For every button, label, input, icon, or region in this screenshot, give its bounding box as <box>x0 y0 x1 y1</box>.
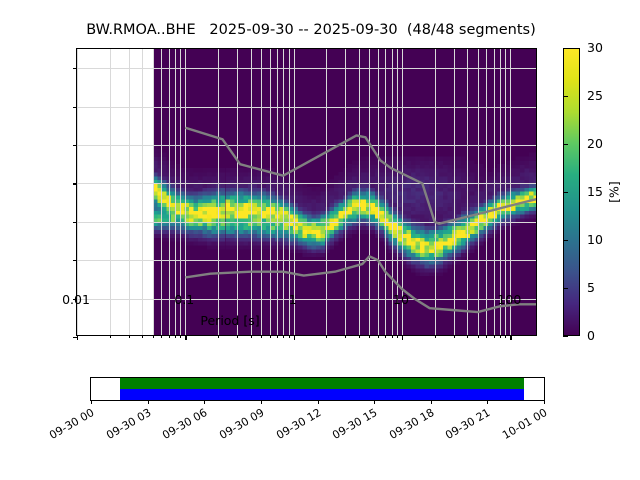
x-tick-minor <box>153 335 154 338</box>
colorbar-tick <box>563 48 568 49</box>
x-tick-minor <box>277 335 278 338</box>
x-tick-minor <box>378 335 379 338</box>
y-tick <box>73 222 78 223</box>
x-tick-minor <box>218 335 219 338</box>
x-tick-minor <box>435 335 436 338</box>
x-tick-minor <box>251 335 252 338</box>
colorbar-tick <box>563 288 568 289</box>
timeline-bar-blue <box>120 389 524 400</box>
x-tick-label: 10 <box>393 292 409 307</box>
page-title: BW.RMOA..BHE 2025-09-30 -- 2025-09-30 (4… <box>76 22 546 38</box>
timeline-tick-label: 09-30 18 <box>385 406 437 443</box>
ppsd-plot-axes[interactable] <box>76 48 537 336</box>
x-tick-minor <box>486 335 487 338</box>
y-tick <box>73 107 78 108</box>
timeline-tick-label: 09-30 15 <box>328 406 380 443</box>
x-tick-minor <box>478 335 479 338</box>
timeline-tick <box>544 400 545 404</box>
colorbar-tick-label: 25 <box>587 88 603 103</box>
x-tick-minor <box>289 335 290 338</box>
x-tick-minor <box>359 335 360 338</box>
timeline-tick <box>91 400 92 404</box>
x-tick-minor <box>161 335 162 338</box>
x-tick-minor <box>467 335 468 338</box>
colorbar-tick <box>563 240 568 241</box>
timeline-tick-label: 09-30 21 <box>441 406 493 443</box>
x-tick-major <box>185 335 186 340</box>
x-tick-minor <box>385 335 386 338</box>
y-tick <box>73 145 78 146</box>
x-tick-label: 1 <box>289 292 297 307</box>
timeline-tick <box>318 400 319 404</box>
noise-model-nhnm <box>185 128 536 224</box>
x-tick-minor <box>494 335 495 338</box>
x-tick-minor <box>283 335 284 338</box>
colorbar-tick-label: 0 <box>587 328 595 343</box>
x-tick-minor <box>129 335 130 338</box>
x-tick-label: 100 <box>497 292 521 307</box>
colorbar-tick <box>563 192 568 193</box>
timeline-bar-green <box>120 378 524 389</box>
x-tick-minor <box>237 335 238 338</box>
x-axis-title: Period [s] <box>200 313 259 328</box>
noise-model-nlnm <box>185 256 536 312</box>
timeline-tick <box>487 400 488 404</box>
timeline-tick <box>204 400 205 404</box>
timeline-tick <box>431 400 432 404</box>
noise-model-curves <box>77 49 536 335</box>
colorbar-tick <box>563 144 568 145</box>
colorbar-title: [%] <box>607 181 622 203</box>
x-tick-major <box>77 335 78 340</box>
ppsd-plot-canvas <box>77 49 536 335</box>
x-tick-major <box>294 335 295 340</box>
x-tick-minor <box>169 335 170 338</box>
timeline-tick <box>374 400 375 404</box>
ppsd-figure: BW.RMOA..BHE 2025-09-30 -- 2025-09-30 (4… <box>0 0 640 480</box>
x-tick-minor <box>454 335 455 338</box>
x-tick-minor <box>505 335 506 338</box>
x-tick-minor <box>175 335 176 338</box>
x-tick-minor <box>142 335 143 338</box>
x-tick-label: 0.01 <box>62 292 90 307</box>
data-coverage-timeline[interactable] <box>90 377 545 401</box>
timeline-tick-label: 09-30 00 <box>45 406 97 443</box>
timeline-tick-label: 10-01 00 <box>498 406 550 443</box>
colorbar-tick-label: 5 <box>587 280 595 295</box>
x-tick-minor <box>270 335 271 338</box>
x-tick-minor <box>397 335 398 338</box>
x-tick-minor <box>110 335 111 338</box>
colorbar-tick <box>563 96 568 97</box>
x-tick-minor <box>326 335 327 338</box>
x-tick-minor <box>369 335 370 338</box>
x-tick-label: 0.1 <box>174 292 194 307</box>
timeline-canvas <box>91 378 544 400</box>
colorbar-tick <box>563 336 568 337</box>
x-tick-minor <box>500 335 501 338</box>
timeline-tick-label: 09-30 03 <box>102 406 154 443</box>
colorbar-tick-label: 15 <box>587 184 603 199</box>
colorbar-tick-label: 20 <box>587 136 603 151</box>
y-tick <box>73 260 78 261</box>
colorbar-tick-label: 30 <box>587 40 603 55</box>
timeline-tick <box>261 400 262 404</box>
timeline-tick-label: 09-30 06 <box>158 406 210 443</box>
colorbar-tick-label: 10 <box>587 232 603 247</box>
timeline-tick-label: 09-30 12 <box>271 406 323 443</box>
x-tick-minor <box>392 335 393 338</box>
timeline-tick <box>148 400 149 404</box>
x-tick-minor <box>261 335 262 338</box>
x-tick-major <box>510 335 511 340</box>
timeline-tick-label: 09-30 09 <box>215 406 267 443</box>
x-tick-major <box>402 335 403 340</box>
x-tick-minor <box>345 335 346 338</box>
y-tick <box>73 68 78 69</box>
y-tick <box>73 183 78 184</box>
x-tick-minor <box>180 335 181 338</box>
